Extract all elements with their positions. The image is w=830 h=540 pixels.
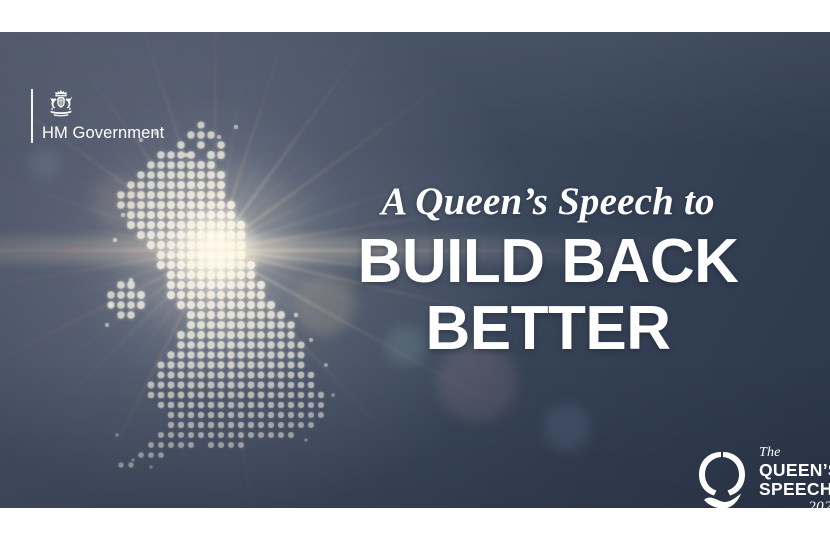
- headline-line-2: BETTER: [330, 297, 766, 361]
- headline-line-1: BUILD BACK: [330, 230, 766, 294]
- hm-government-name: HM Government: [42, 124, 164, 143]
- headline-kicker: A Queen’s Speech to: [330, 182, 766, 222]
- poster-canvas: HM Government A Queen’s Speech to BUILD …: [0, 0, 830, 540]
- queens-speech-banner: HM Government A Queen’s Speech to BUILD …: [0, 32, 830, 508]
- flare-ghost-orb: [27, 146, 63, 182]
- hm-government-logo: HM Government: [31, 89, 164, 143]
- uk-halftone-dot-map: [96, 120, 356, 470]
- queens-speech-q-icon: [694, 450, 750, 509]
- headline-block: A Queen’s Speech to BUILD BACK BETTER: [330, 182, 766, 360]
- logo-divider-rule: [31, 89, 33, 143]
- queens-speech-word-speech: SPEECH: [759, 481, 830, 499]
- royal-coat-of-arms-icon: [44, 89, 78, 119]
- queens-speech-word-queens: QUEEN’S: [759, 462, 830, 480]
- queens-speech-logo: The QUEEN’S SPEECH 2021: [694, 446, 830, 508]
- flare-ghost-orb: [541, 402, 593, 454]
- queens-speech-the: The: [759, 446, 781, 460]
- queens-speech-year: 2021: [808, 500, 830, 508]
